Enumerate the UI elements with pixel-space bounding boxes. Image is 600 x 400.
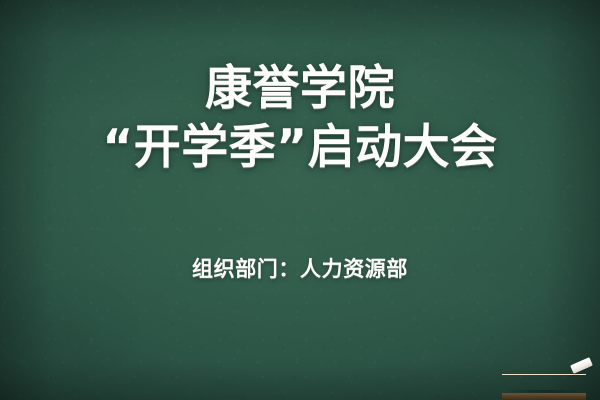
page-title-line-2: “开学季”启动大会 [0, 117, 600, 180]
title-slide: 康誉学院 “开学季”启动大会 组织部门：人力资源部 [0, 0, 600, 400]
chalk-tray-top-surface [502, 374, 586, 394]
page-title-line-1: 康誉学院 [0, 58, 600, 121]
organizing-department-subtitle: 组织部门：人力资源部 [0, 253, 600, 283]
chalk-tray-front-face [502, 393, 586, 400]
chalk-tray [502, 374, 586, 400]
slide-content: 康誉学院 “开学季”启动大会 组织部门：人力资源部 [0, 0, 600, 400]
